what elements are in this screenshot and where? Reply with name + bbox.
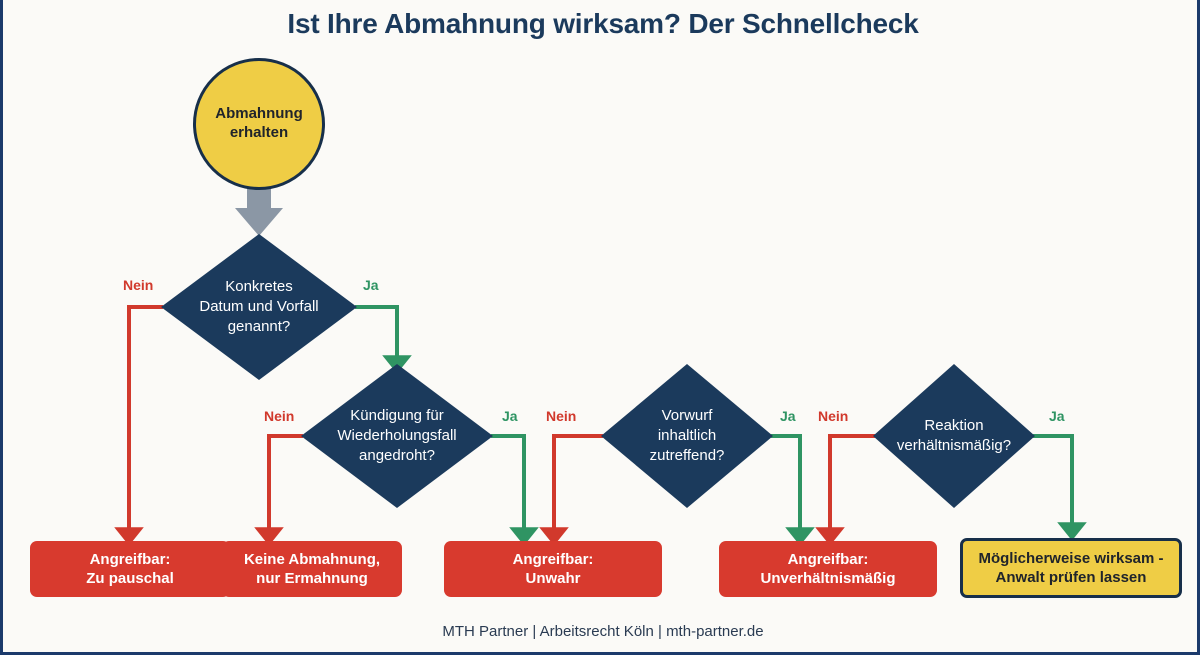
wire-d2-ja <box>491 436 524 536</box>
branch-label-d3-ja: Ja <box>780 408 796 424</box>
decision-line2: Datum und Vorfall <box>199 297 318 317</box>
wire-d4-ja <box>1033 436 1072 531</box>
result-line2: Anwalt prüfen lassen <box>978 568 1163 588</box>
decision-line1: Kündigung für <box>337 406 456 426</box>
branch-label-d1-ja: Ja <box>363 277 379 293</box>
flowchart-canvas: Ist Ihre Abmahnung wirksam? Der Schnellc… <box>0 0 1200 655</box>
wire-d4-nein <box>830 436 875 536</box>
start-node-abmahnung-erhalten[interactable]: Abmahnung erhalten <box>193 58 325 190</box>
result-line2: Unverhältnismäßig <box>760 569 895 589</box>
branch-label-d2-nein: Nein <box>264 408 294 424</box>
result-moeglicherweise-wirksam[interactable]: Möglicherweise wirksam - Anwalt prüfen l… <box>960 538 1182 598</box>
result-line1: Angreifbar: <box>760 550 895 570</box>
result-line2: nur Ermahnung <box>244 569 380 589</box>
result-line1: Keine Abmahnung, <box>244 550 380 570</box>
decision-line2: verhältnismäßig? <box>897 436 1011 456</box>
result-text: Angreifbar: Zu pauschal <box>86 550 174 589</box>
wire-d3-nein <box>554 436 603 536</box>
decision-line1: Reaktion <box>897 416 1011 436</box>
result-unverhaeltnismaessig[interactable]: Angreifbar: Unverhältnismäßig <box>719 541 937 597</box>
result-line2: Unwahr <box>513 569 594 589</box>
branch-label-d4-ja: Ja <box>1049 408 1065 424</box>
result-nur-ermahnung[interactable]: Keine Abmahnung, nur Ermahnung <box>222 541 402 597</box>
decision-kuendigung-angedroht[interactable]: Kündigung für Wiederholungsfall angedroh… <box>301 364 493 508</box>
result-line1: Möglicherweise wirksam - <box>978 549 1163 569</box>
decision-line3: zutreffend? <box>650 446 725 466</box>
decision-line1: Konkretes <box>199 277 318 297</box>
decision-datum-vorfall[interactable]: Konkretes Datum und Vorfall genannt? <box>161 234 357 380</box>
result-line2: Zu pauschal <box>86 569 174 589</box>
decision-label: Reaktion verhältnismäßig? <box>891 416 1017 457</box>
result-text: Angreifbar: Unverhältnismäßig <box>760 550 895 589</box>
branch-label-d2-ja: Ja <box>502 408 518 424</box>
decision-vorwurf-zutreffend[interactable]: Vorwurf inhaltlich zutreffend? <box>601 364 773 508</box>
branch-label-d1-nein: Nein <box>123 277 153 293</box>
decision-line2: inhaltlich <box>650 426 725 446</box>
wire-d1-ja <box>355 307 397 364</box>
wire-d2-nein <box>269 436 303 536</box>
decision-line1: Vorwurf <box>650 406 725 426</box>
decision-line3: angedroht? <box>337 446 456 466</box>
result-unwahr[interactable]: Angreifbar: Unwahr <box>444 541 662 597</box>
decision-label: Kündigung für Wiederholungsfall angedroh… <box>331 406 462 467</box>
branch-label-d4-nein: Nein <box>818 408 848 424</box>
start-node-line2: erhalten <box>230 124 288 143</box>
result-text: Möglicherweise wirksam - Anwalt prüfen l… <box>978 549 1163 588</box>
footer-credit: MTH Partner | Arbeitsrecht Köln | mth-pa… <box>3 623 1200 640</box>
decision-line2: Wiederholungsfall <box>337 426 456 446</box>
result-line1: Angreifbar: <box>86 550 174 570</box>
wire-d1-nein <box>129 307 163 536</box>
result-text: Keine Abmahnung, nur Ermahnung <box>244 550 380 589</box>
result-text: Angreifbar: Unwahr <box>513 550 594 589</box>
start-node-line1: Abmahnung <box>215 105 303 124</box>
decision-line3: genannt? <box>199 317 318 337</box>
result-zu-pauschal[interactable]: Angreifbar: Zu pauschal <box>30 541 230 597</box>
decision-label: Vorwurf inhaltlich zutreffend? <box>644 406 731 467</box>
wire-d3-ja <box>771 436 800 536</box>
result-line1: Angreifbar: <box>513 550 594 570</box>
decision-label: Konkretes Datum und Vorfall genannt? <box>193 277 324 338</box>
branch-label-d3-nein: Nein <box>546 408 576 424</box>
decision-reaktion-verhaeltnismaessig[interactable]: Reaktion verhältnismäßig? <box>873 364 1035 508</box>
